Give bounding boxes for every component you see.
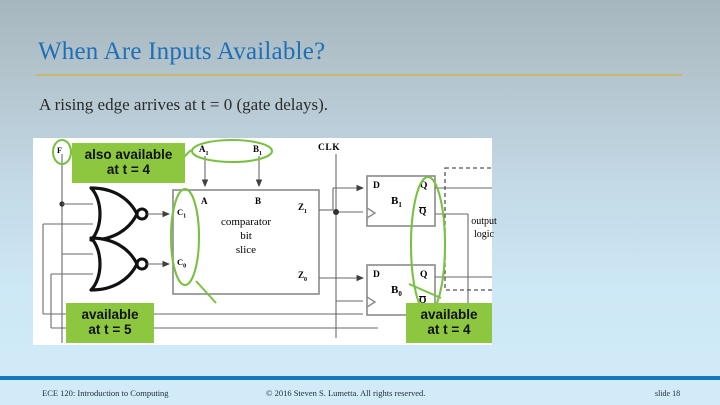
label-c1: C1 — [177, 207, 186, 220]
ff0-name: B0 — [391, 284, 402, 298]
slide: When Are Inputs Available? A rising edge… — [0, 0, 720, 405]
ff1-d-label: D — [373, 181, 380, 191]
ff0-d-label: D — [373, 270, 380, 280]
label-b1: B1 — [253, 144, 262, 157]
port-a: A — [201, 196, 208, 206]
callout-line-2: at t = 4 — [413, 322, 485, 337]
title-divider — [36, 74, 682, 76]
ff1-qbar-label: Q — [419, 207, 426, 218]
callout-available-t5: available at t = 5 — [66, 303, 154, 343]
callout-line-2: at t = 4 — [79, 162, 178, 177]
footer-course: ECE 120: Introduction to Computing — [42, 388, 169, 398]
ff0-q-label: Q — [420, 270, 427, 280]
page-title: When Are Inputs Available? — [38, 38, 325, 66]
output-logic-label: output logic — [451, 216, 517, 241]
label-c0: C0 — [177, 257, 186, 270]
slide-subtitle: A rising edge arrives at t = 0 (gate del… — [39, 95, 328, 115]
label-f: F — [57, 146, 62, 155]
callout-line-2: at t = 5 — [73, 322, 147, 337]
label-z0-comparator: Z0 — [298, 270, 307, 283]
clk-junction — [333, 209, 339, 215]
ff1-name: B1 — [391, 195, 402, 209]
callout-line-1: available — [73, 307, 147, 322]
nor-gate-2 — [91, 238, 147, 290]
callout-available-t4: available at t = 4 — [406, 303, 492, 343]
callout-also-available-t4: also available at t = 4 — [72, 143, 185, 183]
ff1-q-label: Q — [420, 181, 427, 191]
footer-slide-number: slide 18 — [655, 389, 680, 398]
callout-line-1: available — [413, 307, 485, 322]
footer-copyright: © 2016 Steven S. Lumetta. All rights res… — [266, 388, 425, 398]
nor-gate-1 — [91, 188, 147, 240]
label-z1-comparator: Z1 — [298, 202, 307, 215]
callout-line-1: also available — [79, 147, 178, 162]
label-clk: CLK — [318, 143, 340, 153]
comparator-label: comparator bit slice — [188, 216, 304, 257]
label-a1: A1 — [199, 144, 209, 157]
port-b: B — [255, 196, 261, 206]
